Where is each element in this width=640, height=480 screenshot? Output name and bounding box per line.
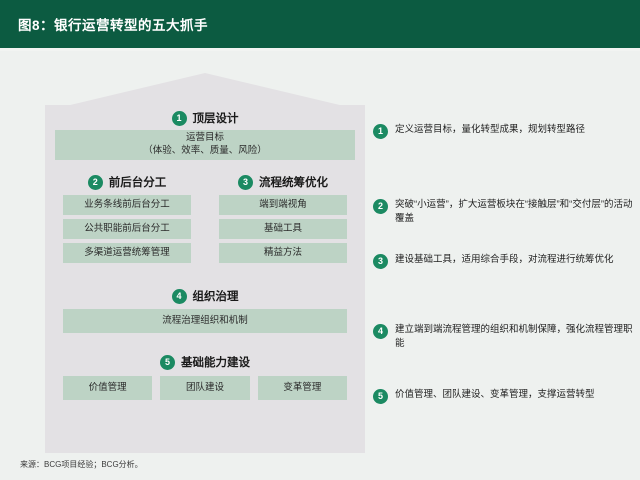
section-title: 顶层设计	[193, 110, 239, 126]
tile-team-building[interactable]: 团队建设	[160, 376, 249, 400]
annotation-number-badge: 4	[373, 324, 388, 339]
section-title: 基础能力建设	[181, 354, 250, 370]
annotation-2: 2 突破“小运营”，扩大运营板块在“接触层”和“交付层”的活动覆盖	[373, 198, 635, 227]
annotation-text: 建立端到端流程管理的组织和机制保障，强化流程管理职能	[395, 323, 635, 352]
section-front-back-office: 2 前后台分工 业务条线前后台分工 公共职能前后台分工 多渠道运营统筹管理	[53, 171, 201, 276]
tile-business-line-split[interactable]: 业务条线前后台分工	[63, 195, 191, 215]
tile-process-governance[interactable]: 流程治理组织和机制	[63, 309, 347, 333]
diagram-canvas: 1 顶层设计 运营目标 （体验、效率、质量、风险） 2 前后台分工 业务条线前后…	[0, 51, 640, 480]
section-org-governance: 4 组织治理 流程治理组织和机制	[53, 285, 357, 341]
tile-lean-methods[interactable]: 精益方法	[219, 243, 347, 263]
section-header: 4 组织治理	[53, 285, 357, 307]
annotation-text: 价值管理、团队建设、变革管理，支撑运营转型	[395, 388, 595, 402]
section-number-badge: 1	[172, 111, 187, 126]
annotation-number-badge: 3	[373, 254, 388, 269]
annotation-number-badge: 2	[373, 199, 388, 214]
section-process-optimization: 3 流程统筹优化 端到端视角 基础工具 精益方法	[209, 171, 357, 276]
section-header: 3 流程统筹优化	[209, 171, 357, 193]
annotation-5: 5 价值管理、团队建设、变革管理，支撑运营转型	[373, 388, 635, 404]
section-number-badge: 5	[160, 355, 175, 370]
section-number-badge: 3	[238, 175, 253, 190]
house-diagram: 1 顶层设计 运营目标 （体验、效率、质量、风险） 2 前后台分工 业务条线前后…	[45, 71, 365, 453]
page-title: 图8：银行运营转型的五大抓手	[18, 14, 208, 34]
section-title: 组织治理	[193, 288, 239, 304]
tile-list: 端到端视角 基础工具 精益方法	[209, 195, 357, 263]
tile-value-management[interactable]: 价值管理	[63, 376, 152, 400]
annotation-4: 4 建立端到端流程管理的组织和机制保障，强化流程管理职能	[373, 323, 635, 352]
annotation-text: 突破“小运营”，扩大运营板块在“接触层”和“交付层”的活动覆盖	[395, 198, 635, 227]
section-top-design: 1 顶层设计 运营目标 （体验、效率、质量、风险）	[55, 107, 355, 159]
annotation-text: 建设基础工具，适用综合手段，对流程进行统筹优化	[395, 253, 614, 267]
annotation-text: 定义运营目标，量化转型成果，规划转型路径	[395, 123, 585, 137]
section-header: 1 顶层设计	[55, 107, 355, 129]
section-title: 前后台分工	[109, 174, 167, 190]
annotation-number-badge: 5	[373, 389, 388, 404]
annotation-number-badge: 1	[373, 124, 388, 139]
source-note: 来源：BCG项目经验；BCG分析。	[20, 459, 143, 470]
section-title: 流程统筹优化	[259, 174, 328, 190]
chart-title-bar: 图8：银行运营转型的五大抓手	[0, 0, 640, 51]
tile-multichannel-management[interactable]: 多渠道运营统筹管理	[63, 243, 191, 263]
section-header: 5 基础能力建设	[53, 351, 357, 373]
section-capability-building: 5 基础能力建设 价值管理 团队建设 变革管理	[53, 351, 357, 409]
section-number-badge: 4	[172, 289, 187, 304]
tile-basic-tools[interactable]: 基础工具	[219, 219, 347, 239]
tile-shared-function-split[interactable]: 公共职能前后台分工	[63, 219, 191, 239]
annotation-3: 3 建设基础工具，适用综合手段，对流程进行统筹优化	[373, 253, 635, 269]
tile-list: 业务条线前后台分工 公共职能前后台分工 多渠道运营统筹管理	[53, 195, 201, 263]
tile-list: 价值管理 团队建设 变革管理	[63, 376, 347, 400]
tile-end-to-end-view[interactable]: 端到端视角	[219, 195, 347, 215]
tile-operating-goals[interactable]: 运营目标 （体验、效率、质量、风险）	[55, 130, 355, 160]
annotation-1: 1 定义运营目标，量化转型成果，规划转型路径	[373, 123, 635, 139]
tile-change-management[interactable]: 变革管理	[258, 376, 347, 400]
section-number-badge: 2	[88, 175, 103, 190]
section-header: 2 前后台分工	[53, 171, 201, 193]
